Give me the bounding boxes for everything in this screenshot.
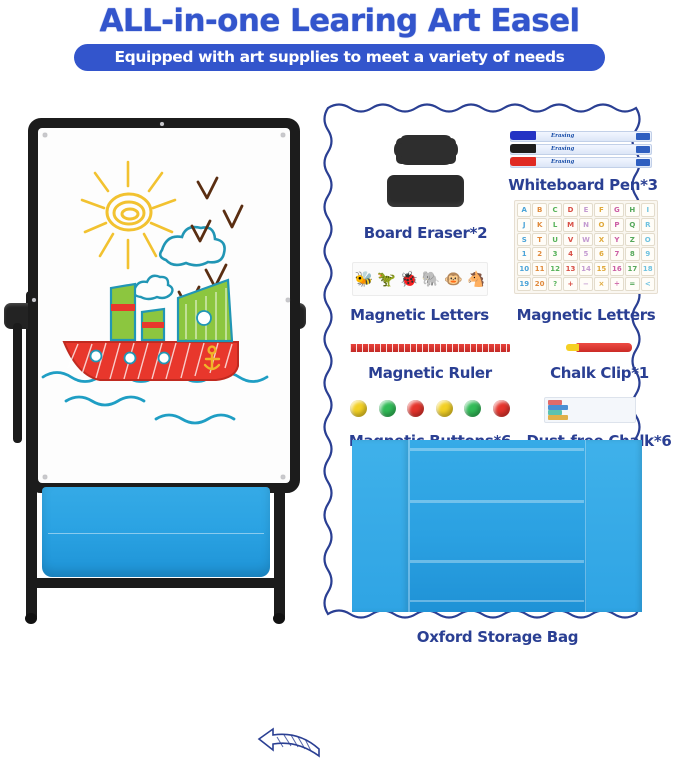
magnetic-button <box>350 400 367 417</box>
magnet-tile: L <box>548 218 562 232</box>
magnet-tile: 2 <box>532 247 546 261</box>
magnet-tile: S <box>517 233 531 247</box>
frame-rivet <box>32 298 36 302</box>
magnet-tile: 20 <box>532 277 546 291</box>
pen-cap <box>510 131 536 140</box>
magnet-tile: ÷ <box>610 277 624 291</box>
bag-seam <box>410 448 584 451</box>
pen-tag <box>636 133 650 140</box>
frame-rivet <box>281 133 285 137</box>
header-banner: ALL-in-one Learing Art Easel Equipped wi… <box>0 0 679 86</box>
bag-flap-left <box>352 440 408 612</box>
magnet-tile: 13 <box>563 262 577 276</box>
animal-magnet: 🐘 <box>422 272 441 287</box>
bag-seam <box>585 440 587 612</box>
subtitle-banner: Equipped with art supplies to meet a var… <box>74 44 605 71</box>
magnetic-button <box>436 400 453 417</box>
magnet-tile: M <box>563 218 577 232</box>
magnet-tile: D <box>563 203 577 217</box>
whiteboard-drawing <box>38 128 290 483</box>
magnetic-letters-grid: ABCDEFGHIJKLMNOPQRSTUVWXYZO1234567891011… <box>514 200 658 294</box>
magnet-tile: K <box>532 218 546 232</box>
magnet-tile: 3 <box>548 247 562 261</box>
magnet-tile: C <box>548 203 562 217</box>
pen-tag <box>636 159 650 166</box>
whiteboard-pen-blue: Erasing <box>510 131 652 142</box>
animal-magnet: 🐞 <box>399 272 418 287</box>
magnet-tile: Y <box>610 233 624 247</box>
magnet-tile: 1 <box>517 247 531 261</box>
magnet-tile: 12 <box>548 262 562 276</box>
magnetic-buttons-row <box>350 398 510 418</box>
pen-cap <box>510 144 536 153</box>
magnet-tile: 17 <box>625 262 639 276</box>
magnetic-ruler <box>350 344 510 352</box>
board-eraser-small-shape <box>392 134 462 168</box>
pen-brand-label: Erasing <box>551 132 574 141</box>
ruler-ticks <box>350 344 510 352</box>
magnet-tile: U <box>548 233 562 247</box>
magnet-tile: 9 <box>641 247 655 261</box>
magnet-tile: 10 <box>517 262 531 276</box>
board-eraser-large <box>387 175 464 207</box>
easel-storage-tray <box>42 487 270 577</box>
magnet-tile: 5 <box>579 247 593 261</box>
pen-brand-label: Erasing <box>551 145 574 154</box>
magnet-tile: ? <box>548 277 562 291</box>
magnet-tile: 11 <box>532 262 546 276</box>
pen-cap <box>510 157 536 166</box>
magnetic-button <box>379 400 396 417</box>
label-oxford-storage-bag: Oxford Storage Bag <box>380 628 615 646</box>
magnetic-button <box>407 400 424 417</box>
pen-tag <box>636 146 650 153</box>
magnet-tile: E <box>579 203 593 217</box>
magnet-tile: 7 <box>610 247 624 261</box>
frame-rivet <box>43 133 47 137</box>
whiteboard-surface <box>38 128 290 483</box>
magnet-tile: 14 <box>579 262 593 276</box>
magnet-tile: 16 <box>610 262 624 276</box>
frame-rivet <box>160 122 164 126</box>
frame-rivet <box>43 475 47 479</box>
animal-magnet: 🦖 <box>377 272 396 287</box>
easel-foot-right <box>273 613 285 624</box>
easel-support-left <box>13 323 22 443</box>
label-magnetic-ruler: Magnetic Ruler <box>350 364 510 382</box>
magnet-tile: O <box>594 218 608 232</box>
magnet-tile: × <box>594 277 608 291</box>
magnet-tile: R <box>641 218 655 232</box>
magnet-tile: O <box>641 233 655 247</box>
magnet-tile: A <box>517 203 531 217</box>
whiteboard-frame <box>28 118 300 493</box>
magnet-tile: G <box>610 203 624 217</box>
magnetic-button <box>493 400 510 417</box>
whiteboard-pen-red: Erasing <box>510 157 652 168</box>
frame-rivet <box>286 298 290 302</box>
magnet-tile: W <box>579 233 593 247</box>
magnet-tile: B <box>532 203 546 217</box>
magnet-tile: N <box>579 218 593 232</box>
label-whiteboard-pen: Whiteboard Pen*3 <box>508 176 658 194</box>
frame-rivet <box>281 475 285 479</box>
magnetic-animal-strip: 🐝🦖🐞🐘🐵🐴 <box>352 262 488 296</box>
magnet-tile: J <box>517 218 531 232</box>
animal-magnet: 🐝 <box>355 272 374 287</box>
magnet-tile: 19 <box>517 277 531 291</box>
magnet-tile: H <box>625 203 639 217</box>
magnet-tile: 18 <box>641 262 655 276</box>
magnet-tile: 8 <box>625 247 639 261</box>
magnet-tile: Z <box>625 233 639 247</box>
chalk-clip <box>566 343 632 352</box>
chalk-clip-tip <box>566 344 579 351</box>
easel-product-image <box>0 95 320 672</box>
magnet-tile: 15 <box>594 262 608 276</box>
magnet-tile: 6 <box>594 247 608 261</box>
magnet-tile: P <box>610 218 624 232</box>
label-chalk-clip: Chalk Clip*1 <box>532 364 667 382</box>
magnet-tile: Q <box>625 218 639 232</box>
animal-magnet: 🐴 <box>466 272 485 287</box>
animal-magnet: 🐵 <box>444 272 463 287</box>
magnet-tile: + <box>563 277 577 291</box>
page-title: ALL-in-one Learing Art Easel <box>0 3 679 39</box>
magnet-tile: F <box>594 203 608 217</box>
magnet-tile: X <box>594 233 608 247</box>
label-board-eraser: Board Eraser*2 <box>353 224 498 242</box>
magnet-tile: < <box>641 277 655 291</box>
subtitle-text: Equipped with art supplies to meet a var… <box>74 44 605 71</box>
bag-seam <box>410 500 584 503</box>
label-magnetic-letters-animals: Magnetic Letters <box>348 306 491 324</box>
dust-free-chalk-box <box>544 397 636 423</box>
magnetic-button <box>464 400 481 417</box>
bag-seam <box>408 440 410 612</box>
magnet-tile: I <box>641 203 655 217</box>
easel-crossbar-bottom <box>26 578 285 588</box>
magnet-tile: V <box>563 233 577 247</box>
easel-foot-left <box>25 613 37 624</box>
rotate-arrow-icon <box>253 725 325 759</box>
bag-seam <box>410 560 584 563</box>
chalk-stick <box>548 415 568 420</box>
chalk-clip-body <box>576 343 632 352</box>
label-magnetic-letters-grid: Magnetic Letters <box>512 306 660 324</box>
pen-brand-label: Erasing <box>551 158 574 167</box>
magnet-tile: T <box>532 233 546 247</box>
magnet-tile: 4 <box>563 247 577 261</box>
bag-seam <box>410 600 584 602</box>
whiteboard-pen-black: Erasing <box>510 144 652 155</box>
magnet-tile: − <box>579 277 593 291</box>
oxford-storage-bag <box>352 440 642 612</box>
bag-flap-right <box>586 440 642 612</box>
magnet-tile: = <box>625 277 639 291</box>
